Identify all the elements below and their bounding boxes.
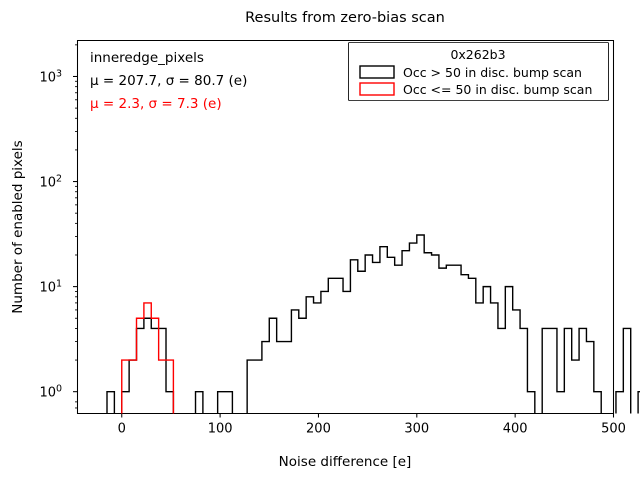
y-axis-ticks: 100101102103 <box>40 68 78 400</box>
x-tick-label: 0 <box>118 422 126 437</box>
x-tick-label: 300 <box>404 422 429 437</box>
x-axis-ticks: 0100200300400500 <box>118 414 626 437</box>
figure-canvas: Results from zero-bias scan Number of en… <box>0 0 640 480</box>
y-axis-label: Number of enabled pixels <box>10 140 26 313</box>
y-tick-label: 103 <box>40 68 63 85</box>
legend-title: 0x262b3 <box>450 47 505 62</box>
annotation-stats-red: μ = 2.3, σ = 7.3 (e) <box>90 96 222 112</box>
y-tick-label: 101 <box>40 279 63 296</box>
legend: 0x262b3 Occ > 50 in disc. bump scan Occ … <box>349 43 609 101</box>
legend-label-occ-le-50: Occ <= 50 in disc. bump scan <box>403 82 592 97</box>
annotation-block: inneredge_pixels μ = 207.7, σ = 80.7 (e)… <box>90 50 247 112</box>
annotation-stats-black: μ = 207.7, σ = 80.7 (e) <box>90 73 247 89</box>
histogram-series-occ-gt-50 <box>107 235 640 414</box>
legend-label-occ-gt-50: Occ > 50 in disc. bump scan <box>403 65 582 80</box>
x-axis-label: Noise difference [e] <box>279 454 412 470</box>
page-title: Results from zero-bias scan <box>245 10 445 26</box>
y-tick-label: 100 <box>40 384 63 401</box>
x-tick-label: 400 <box>503 422 528 437</box>
annotation-dataset-label: inneredge_pixels <box>90 50 204 66</box>
x-tick-label: 500 <box>601 422 626 437</box>
x-tick-label: 100 <box>208 422 233 437</box>
plot-svg: Results from zero-bias scan Number of en… <box>0 0 640 480</box>
x-tick-label: 200 <box>306 422 331 437</box>
y-tick-label: 102 <box>40 174 63 191</box>
